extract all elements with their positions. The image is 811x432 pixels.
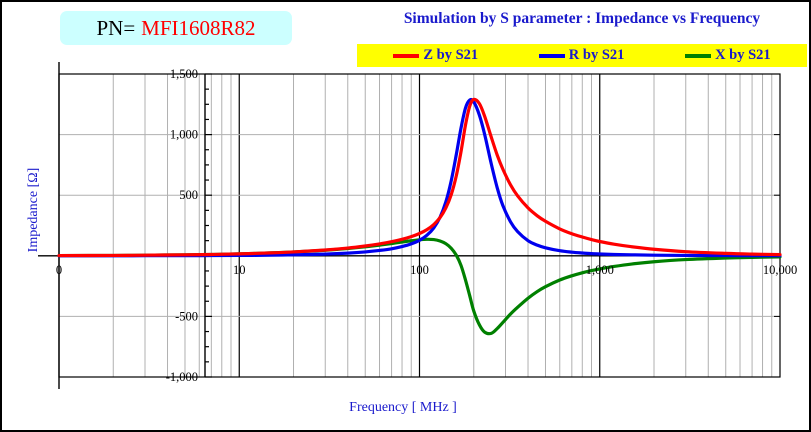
y-tick-label: 1,000	[170, 128, 198, 142]
minor-gridlines	[113, 74, 771, 377]
x-tick-label: 10	[233, 263, 246, 277]
x-tick-label: 1,000	[586, 263, 614, 277]
chart-window: PN= MFI1608R82 Simulation by S parameter…	[0, 0, 811, 432]
y-tick-label: 500	[179, 188, 198, 202]
zero-line	[38, 62, 780, 389]
plot-svg: 1,5001,000500-500-1,0000101001,00010,000	[2, 2, 811, 432]
y-tick-label: -1,000	[166, 370, 198, 384]
plot-area: 1,5001,000500-500-1,0000101001,00010,000	[2, 2, 811, 432]
x-tick-label: 10,000	[763, 263, 797, 277]
y-tick-label: -500	[175, 309, 198, 323]
x-tick-label: 100	[410, 263, 429, 277]
y-tick-label: 1,500	[170, 67, 198, 81]
x-tick-label: 0	[56, 263, 62, 277]
